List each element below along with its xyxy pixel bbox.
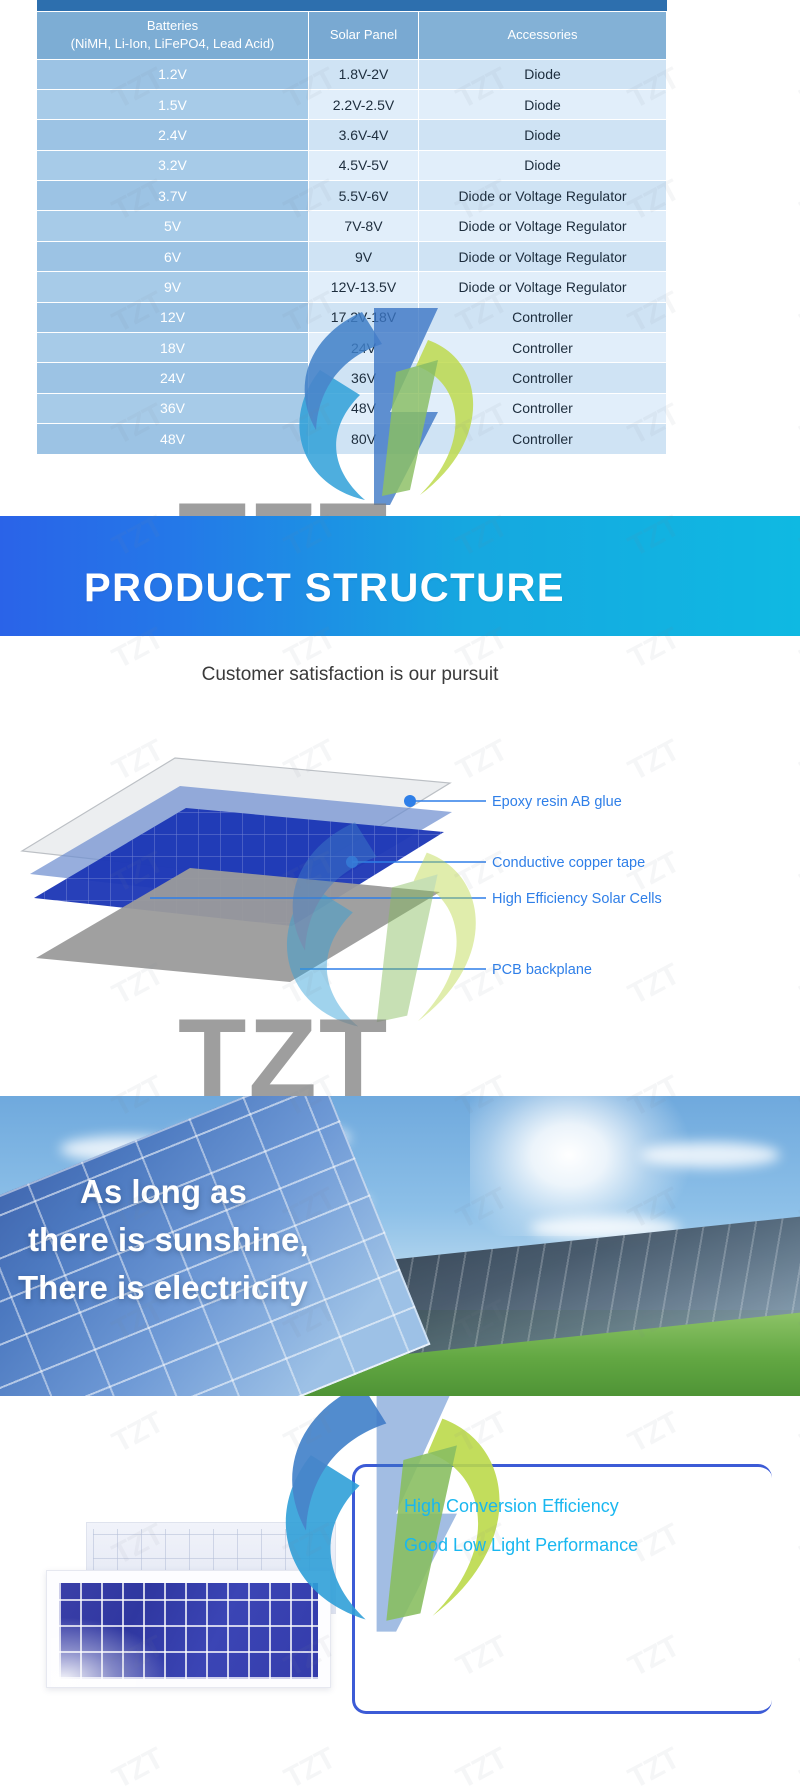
cell-battery: 36V bbox=[37, 393, 309, 423]
cell-solar: 3.6V-4V bbox=[309, 120, 419, 150]
cell-solar: 5.5V-6V bbox=[309, 181, 419, 211]
label-pcb-backplane: PCB backplane bbox=[492, 962, 592, 978]
structure-diagram-section: Customer satisfaction is our pursuit bbox=[0, 636, 800, 1096]
cell-battery: 18V bbox=[37, 333, 309, 363]
table-row: 1.2V1.8V-2VDiode bbox=[37, 59, 667, 89]
features-list: High Conversion EfficiencyGood Low Light… bbox=[404, 1496, 638, 1574]
cell-accessory: Diode bbox=[419, 120, 667, 150]
table-row: 48V80VController bbox=[37, 424, 667, 454]
cell-solar: 48V bbox=[309, 393, 419, 423]
cell-battery: 3.2V bbox=[37, 150, 309, 180]
cell-battery: 12V bbox=[37, 302, 309, 332]
table-row: 3.2V4.5V-5VDiode bbox=[37, 150, 667, 180]
feature-item: High Conversion Efficiency bbox=[404, 1496, 638, 1517]
sunshine-slogan: As long as there is sunshine, There is e… bbox=[0, 1168, 420, 1312]
sunshine-photo-banner: As long as there is sunshine, There is e… bbox=[0, 1096, 800, 1396]
label-conductive-copper-tape: Conductive copper tape bbox=[492, 855, 645, 871]
cell-battery: 5V bbox=[37, 211, 309, 241]
header-batteries-line2: (NiMH, Li-Ion, LiFePO4, Lead Acid) bbox=[41, 35, 304, 53]
product-front-panel bbox=[46, 1570, 331, 1688]
cell-battery: 1.2V bbox=[37, 59, 309, 89]
cell-accessory: Controller bbox=[419, 302, 667, 332]
cell-battery: 24V bbox=[37, 363, 309, 393]
compatibility-table: Batteries (NiMH, Li-Ion, LiFePO4, Lead A… bbox=[36, 0, 667, 455]
cell-solar: 1.8V-2V bbox=[309, 59, 419, 89]
cell-accessory: Controller bbox=[419, 363, 667, 393]
cell-solar: 17.2V-18V bbox=[309, 302, 419, 332]
cell-accessory: Diode or Voltage Regulator bbox=[419, 241, 667, 271]
table-row: 36V48VController bbox=[37, 393, 667, 423]
table-row: 3.7V5.5V-6VDiode or Voltage Regulator bbox=[37, 181, 667, 211]
cell-solar: 4.5V-5V bbox=[309, 150, 419, 180]
slogan-line-2: there is sunshine, bbox=[0, 1216, 420, 1264]
table-row: 9V12V-13.5VDiode or Voltage Regulator bbox=[37, 272, 667, 302]
cell-solar: 2.2V-2.5V bbox=[309, 89, 419, 119]
column-header-accessories: Accessories bbox=[419, 11, 667, 59]
cell-battery: 1.5V bbox=[37, 89, 309, 119]
cell-accessory: Diode or Voltage Regulator bbox=[419, 211, 667, 241]
header-batteries-line1: Batteries bbox=[41, 17, 304, 35]
cell-solar: 12V-13.5V bbox=[309, 272, 419, 302]
cell-solar: 80V bbox=[309, 424, 419, 454]
cell-battery: 6V bbox=[37, 241, 309, 271]
cell-solar: 36V bbox=[309, 363, 419, 393]
cell-accessory: Controller bbox=[419, 333, 667, 363]
cell-accessory: Diode bbox=[419, 89, 667, 119]
table-row: 24V36VController bbox=[37, 363, 667, 393]
table-row: 1.5V2.2V-2.5VDiode bbox=[37, 89, 667, 119]
cell-battery: 2.4V bbox=[37, 120, 309, 150]
product-light-glare bbox=[51, 1617, 171, 1687]
cell-accessory: Diode bbox=[419, 150, 667, 180]
cell-battery: 3.7V bbox=[37, 181, 309, 211]
label-epoxy-resin: Epoxy resin AB glue bbox=[492, 794, 622, 810]
table-body: 1.2V1.8V-2VDiode1.5V2.2V-2.5VDiode2.4V3.… bbox=[37, 59, 667, 454]
product-photo bbox=[46, 1514, 336, 1704]
table-head: Batteries (NiMH, Li-Ion, LiFePO4, Lead A… bbox=[37, 0, 667, 59]
product-detail-page: Batteries (NiMH, Li-Ion, LiFePO4, Lead A… bbox=[0, 0, 800, 1792]
cell-battery: 9V bbox=[37, 272, 309, 302]
table-top-bar bbox=[37, 0, 667, 11]
table-row: 2.4V3.6V-4VDiode bbox=[37, 120, 667, 150]
table-row: 5V7V-8VDiode or Voltage Regulator bbox=[37, 211, 667, 241]
table-header-row: Batteries (NiMH, Li-Ion, LiFePO4, Lead A… bbox=[37, 11, 667, 59]
slogan-line-1: As long as bbox=[0, 1168, 420, 1216]
sun-glow bbox=[470, 1096, 690, 1236]
table-row: 6V9VDiode or Voltage Regulator bbox=[37, 241, 667, 271]
cell-accessory: Controller bbox=[419, 424, 667, 454]
cell-accessory: Diode or Voltage Regulator bbox=[419, 272, 667, 302]
cell-accessory: Controller bbox=[419, 393, 667, 423]
features-section: High Conversion EfficiencyGood Low Light… bbox=[0, 1396, 800, 1792]
banner-title: PRODUCT STRUCTURE bbox=[84, 566, 565, 611]
exploded-layers-diagram bbox=[0, 636, 800, 1096]
column-header-batteries: Batteries (NiMH, Li-Ion, LiFePO4, Lead A… bbox=[37, 11, 309, 59]
cell-battery: 48V bbox=[37, 424, 309, 454]
table-row: 12V17.2V-18VController bbox=[37, 302, 667, 332]
cell-solar: 9V bbox=[309, 241, 419, 271]
spec-table-section: Batteries (NiMH, Li-Ion, LiFePO4, Lead A… bbox=[0, 0, 800, 516]
table-row: 18V24VController bbox=[37, 333, 667, 363]
feature-item: Good Low Light Performance bbox=[404, 1535, 638, 1556]
column-header-solar-panel: Solar Panel bbox=[309, 11, 419, 59]
label-high-efficiency-solar-cells: High Efficiency Solar Cells bbox=[492, 891, 662, 907]
cell-solar: 24V bbox=[309, 333, 419, 363]
cloud bbox=[640, 1142, 780, 1168]
cell-solar: 7V-8V bbox=[309, 211, 419, 241]
cell-accessory: Diode bbox=[419, 59, 667, 89]
cell-accessory: Diode or Voltage Regulator bbox=[419, 181, 667, 211]
product-structure-banner: PRODUCT STRUCTURE bbox=[0, 516, 800, 636]
slogan-line-3: There is electricity bbox=[0, 1264, 420, 1312]
